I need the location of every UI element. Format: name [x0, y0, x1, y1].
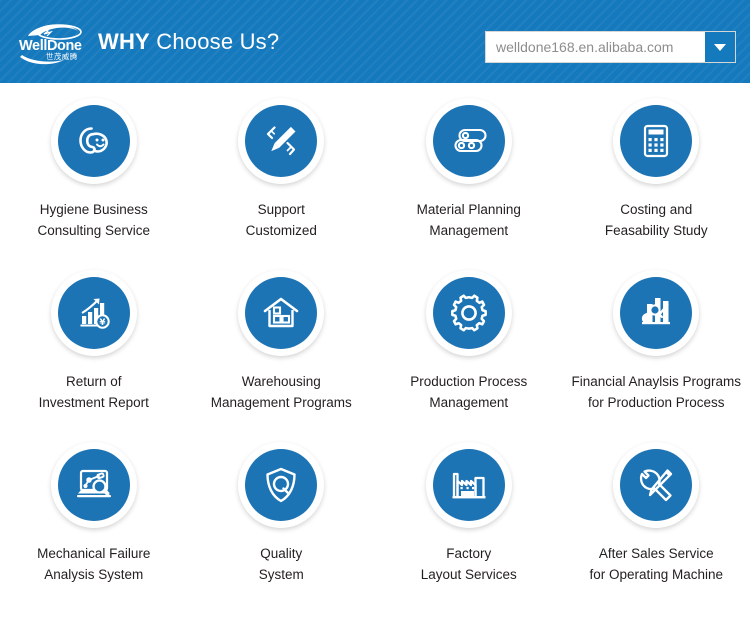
service-card-support-customized[interactable]: Support Customized: [188, 83, 376, 255]
service-card-label: Hygiene Business Consulting Service: [35, 199, 152, 241]
service-card-label: After Sales Service for Operating Machin…: [587, 543, 725, 585]
service-card-label: Warehousing Management Programs: [209, 371, 354, 413]
icon-ring: [613, 442, 699, 528]
page-header: WellDone 世茂威腾 WHY Choose Us? welldone168…: [0, 0, 750, 83]
service-card-label: Material Planning Management: [415, 199, 523, 241]
icon-circle: [620, 449, 692, 521]
service-card-factory-layout[interactable]: Factory Layout Services: [375, 427, 563, 607]
service-card-label: Mechanical Failure Analysis System: [35, 543, 152, 585]
icon-ring: [51, 442, 137, 528]
service-card-financial-analysis[interactable]: Financial Anaylsis Programs for Producti…: [563, 255, 750, 427]
service-card-label: Financial Anaylsis Programs for Producti…: [569, 371, 743, 413]
service-card-label: Return of Investment Report: [37, 371, 151, 413]
icon-ring: [238, 270, 324, 356]
icon-circle: ¥: [58, 277, 130, 349]
icon-ring: [426, 442, 512, 528]
page-title-rest: Choose Us?: [150, 29, 279, 54]
page-root: WellDone 世茂威腾 WHY Choose Us? welldone168…: [0, 0, 750, 624]
icon-circle: [245, 277, 317, 349]
page-title: WHY Choose Us?: [98, 29, 279, 55]
service-card-material-planning[interactable]: Material Planning Management: [375, 83, 563, 255]
chevron-down-icon: [713, 42, 727, 52]
shield-quality-q-icon: [261, 465, 301, 505]
url-dropdown-button[interactable]: [705, 32, 735, 62]
service-card-label: Production Process Management: [408, 371, 529, 413]
phone-support-smiley-icon: [74, 121, 114, 161]
pencil-ruler-design-icon: [261, 121, 301, 161]
icon-ring: ¥: [51, 270, 137, 356]
service-card-return-of-investment[interactable]: ¥ Return of Investment Report: [0, 255, 188, 427]
material-rolls-icon: [449, 121, 489, 161]
welldone-logo[interactable]: WellDone 世茂威腾: [18, 19, 100, 65]
financial-analysis-chart-icon: [635, 292, 677, 334]
icon-circle: [620, 105, 692, 177]
icon-circle: [245, 105, 317, 177]
icon-circle: [433, 277, 505, 349]
service-card-quality-system[interactable]: Quality System: [188, 427, 376, 607]
svg-text:¥: ¥: [99, 318, 105, 328]
service-card-costing-feasability[interactable]: Costing and Feasability Study: [563, 83, 750, 255]
gear-icon: [448, 292, 490, 334]
warehouse-house-boxes-icon: [261, 293, 301, 333]
bar-chart-growth-yen-icon: ¥: [74, 293, 114, 333]
service-card-label: Quality System: [257, 543, 306, 585]
service-card-production-process[interactable]: Production Process Management: [375, 255, 563, 427]
service-card-warehousing-management[interactable]: Warehousing Management Programs: [188, 255, 376, 427]
icon-circle: [245, 449, 317, 521]
laptop-robot-magnifier-icon: [73, 464, 115, 506]
service-grid: Hygiene Business Consulting Service: [0, 83, 750, 607]
icon-circle: [620, 277, 692, 349]
service-card-after-sales-service[interactable]: After Sales Service for Operating Machin…: [563, 427, 750, 607]
page-title-emphasis: WHY: [98, 29, 150, 54]
icon-circle: [58, 449, 130, 521]
wrench-screwdriver-icon: [635, 464, 677, 506]
icon-ring: [238, 98, 324, 184]
icon-ring: [238, 442, 324, 528]
svg-text:世茂威腾: 世茂威腾: [46, 51, 78, 61]
service-card-mechanical-failure-analysis[interactable]: Mechanical Failure Analysis System: [0, 427, 188, 607]
icon-ring: [613, 98, 699, 184]
icon-circle: [433, 105, 505, 177]
url-bar[interactable]: welldone168.en.alibaba.com: [485, 31, 736, 63]
icon-ring: [426, 270, 512, 356]
icon-circle: [58, 105, 130, 177]
service-card-hygiene-business-consulting[interactable]: Hygiene Business Consulting Service: [0, 83, 188, 255]
icon-ring: [51, 98, 137, 184]
service-card-label: Factory Layout Services: [419, 543, 519, 585]
service-card-label: Costing and Feasability Study: [603, 199, 710, 241]
url-input[interactable]: welldone168.en.alibaba.com: [486, 39, 705, 55]
icon-circle: [433, 449, 505, 521]
calculator-icon: [636, 121, 676, 161]
service-card-label: Support Customized: [244, 199, 319, 241]
factory-building-icon: [448, 464, 490, 506]
icon-ring: [426, 98, 512, 184]
icon-ring: [613, 270, 699, 356]
